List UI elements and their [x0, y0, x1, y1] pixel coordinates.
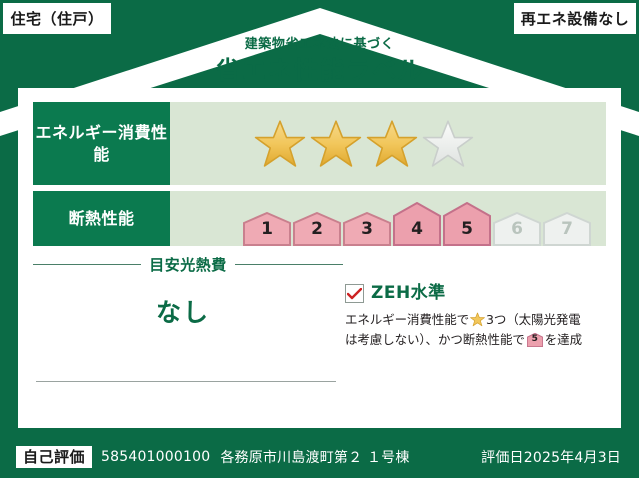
- row-energy-performance: エネルギー消費性能: [33, 102, 606, 185]
- insulation-level-number: 5: [443, 221, 491, 238]
- star-filled-icon: [254, 118, 306, 170]
- insulation-level-4: 4: [393, 202, 441, 246]
- utility-cost-rule: [36, 381, 336, 382]
- footer-evaluation-date: 評価日2025年4月3日: [481, 447, 621, 467]
- insulation-level-6: 6: [493, 212, 541, 246]
- insulation-level-number: 2: [293, 221, 341, 238]
- insulation-scale: 1 2 3: [170, 191, 593, 246]
- insulation-level-1: 1: [243, 212, 291, 246]
- star-inline-icon: [470, 312, 485, 327]
- zeh-header: ZEH水準: [345, 284, 607, 303]
- badge-building-type: 住宅（住戸）: [3, 3, 111, 34]
- divider-right: [235, 264, 343, 265]
- insulation-level-number: 6: [493, 221, 541, 238]
- footer-address: 各務原市川島渡町第２ １号棟: [220, 447, 409, 467]
- zeh-desc-part1: エネルギー消費性能で: [345, 312, 469, 327]
- insulation-level-5: 5: [443, 202, 491, 246]
- row-energy-value: [170, 102, 606, 185]
- star-rating: [170, 118, 474, 170]
- zeh-description: エネルギー消費性能で3つ（太陽光発電は考慮しない）、かつ断熱性能で5を達成: [345, 310, 607, 351]
- check-icon: [347, 288, 362, 300]
- zeh-title: ZEH水準: [371, 285, 446, 302]
- house-inline-icon: 5: [527, 333, 543, 347]
- insulation-level-3: 3: [343, 212, 391, 246]
- footer-bar: 自己評価 585401000100 各務原市川島渡町第２ １号棟 評価日2025…: [0, 436, 639, 478]
- footer-label-id: 585401000100: [101, 449, 210, 465]
- row-insulation-performance: 断熱性能 1 2: [33, 191, 606, 246]
- row-insulation-value: 1 2 3: [170, 191, 606, 246]
- insulation-level-number: 3: [343, 221, 391, 238]
- badge-renewable-energy: 再エネ設備なし: [514, 3, 636, 34]
- row-energy-label: エネルギー消費性能: [33, 102, 170, 185]
- title-block: 建築物省エネ法に基づく 省エネ性能ラベル: [0, 38, 639, 83]
- utility-cost-heading: 目安光熱費: [33, 254, 343, 275]
- zeh-desc-part2: 3つ（太陽光発電: [486, 312, 581, 327]
- footer-evaluation-type: 自己評価: [16, 446, 92, 469]
- utility-cost-value: なし: [33, 293, 333, 329]
- row-insulation-label: 断熱性能: [33, 191, 170, 246]
- insulation-level-number: 7: [543, 221, 591, 238]
- star-filled-icon: [366, 118, 418, 170]
- utility-cost-label: 目安光熱費: [149, 254, 227, 275]
- insulation-level-7: 7: [543, 212, 591, 246]
- insulation-level-2: 2: [293, 212, 341, 246]
- zeh-checkbox[interactable]: [345, 284, 364, 303]
- energy-label-root: 住宅（住戸） 再エネ設備なし 建築物省エネ法に基づく 省エネ性能ラベル エネルギ…: [0, 0, 639, 478]
- zeh-desc-part4: を達成: [545, 332, 582, 347]
- insulation-level-number: 1: [243, 221, 291, 238]
- zeh-block: ZEH水準 エネルギー消費性能で3つ（太陽光発電は考慮しない）、かつ断熱性能で5…: [345, 284, 607, 351]
- divider-left: [33, 264, 141, 265]
- star-empty-icon: [422, 118, 474, 170]
- star-filled-icon: [310, 118, 362, 170]
- zeh-desc-part3: は考慮しない）、かつ断熱性能で: [345, 332, 525, 347]
- page-title: 省エネ性能ラベル: [0, 58, 639, 83]
- zeh-desc-house-number: 5: [527, 333, 543, 347]
- main-card: エネルギー消費性能: [18, 88, 621, 428]
- insulation-level-number: 4: [393, 221, 441, 238]
- title-subtitle: 建築物省エネ法に基づく: [0, 38, 639, 51]
